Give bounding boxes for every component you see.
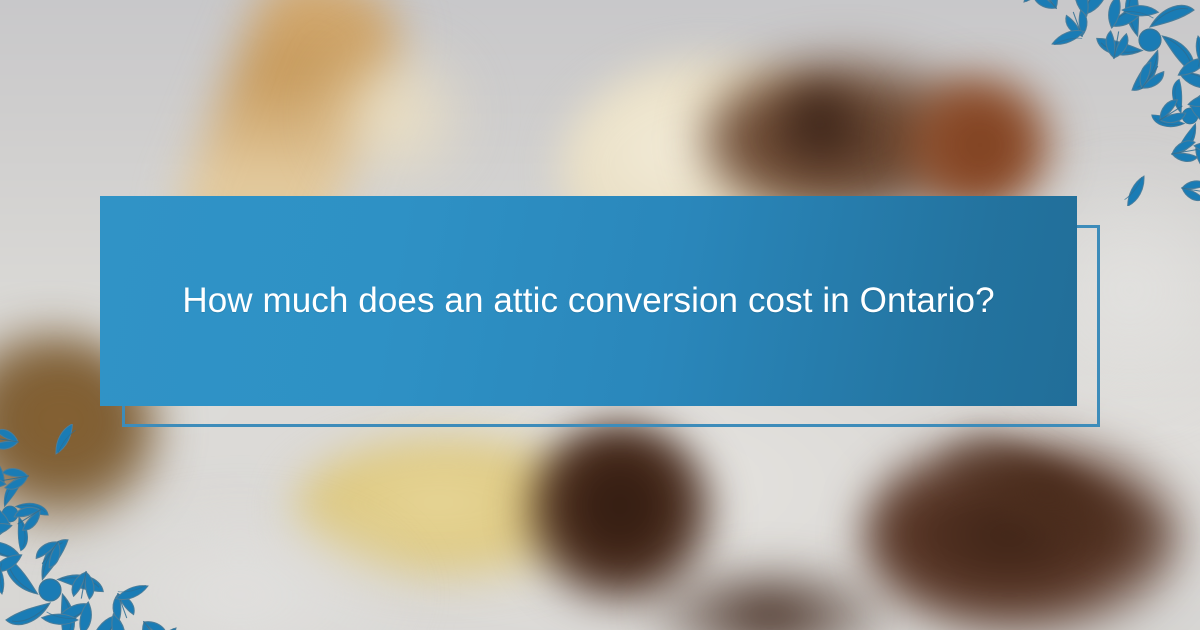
poster-canvas: How much does an attic conversion cost i… [0,0,1200,630]
background-wafer-highlight [300,40,490,190]
background-chocolate-dark-top [760,75,880,170]
title-card: How much does an attic conversion cost i… [100,196,1077,406]
page-title: How much does an attic conversion cost i… [158,274,1019,328]
